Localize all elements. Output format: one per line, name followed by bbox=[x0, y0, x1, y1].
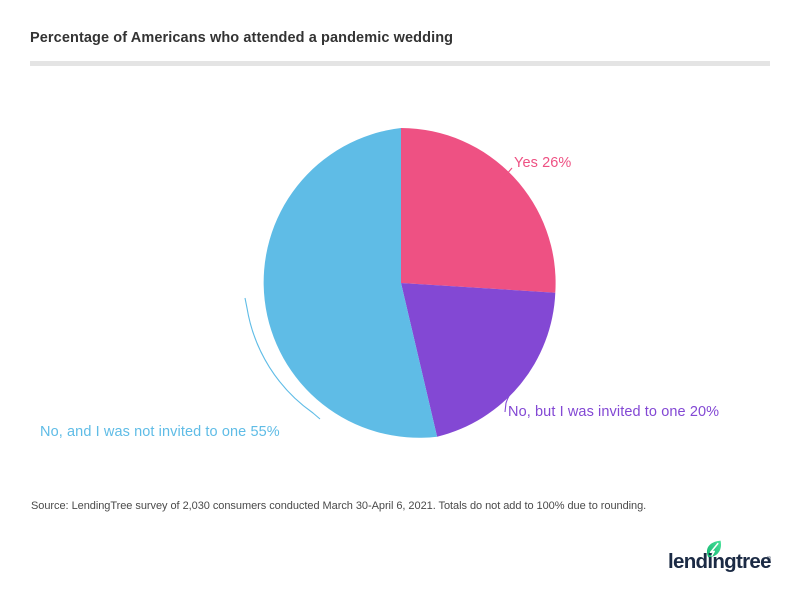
pie-label-yes: Yes 26% bbox=[514, 155, 571, 171]
pie-slice-yes[interactable] bbox=[401, 128, 556, 293]
lendingtree-logo: lendingtree ® bbox=[668, 540, 770, 576]
chart-page: Percentage of Americans who attended a p… bbox=[0, 0, 800, 590]
pie-label-not-invited: No, and I was not invited to one 55% bbox=[40, 424, 280, 440]
pie-label-invited: No, but I was invited to one 20% bbox=[508, 404, 719, 420]
logo-trademark: ® bbox=[767, 557, 771, 563]
source-note: Source: LendingTree survey of 2,030 cons… bbox=[31, 500, 646, 512]
logo-wordmark: lendingtree bbox=[668, 550, 771, 574]
